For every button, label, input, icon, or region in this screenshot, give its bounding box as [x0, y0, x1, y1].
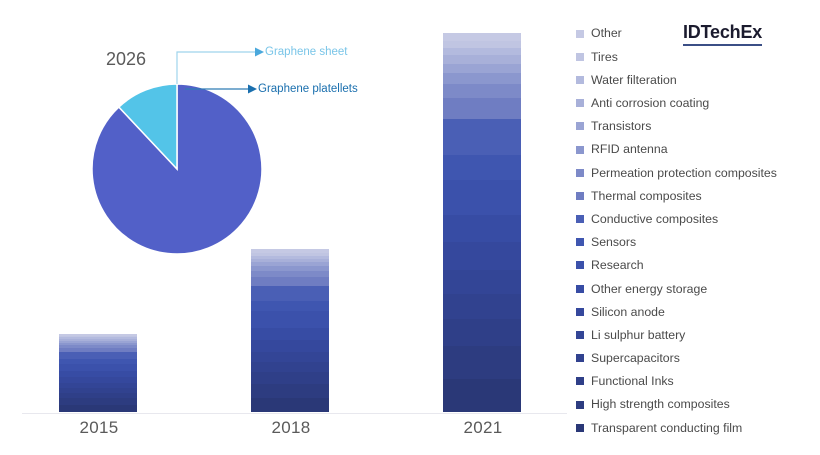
bar-segment [443, 84, 521, 98]
bar-segment [443, 180, 521, 216]
legend-label: Sensors [591, 236, 636, 248]
legend-row[interactable]: Supercapacitors [576, 347, 820, 370]
legend-label: Li sulphur battery [591, 329, 685, 341]
bar-segment [251, 311, 329, 327]
legend-row[interactable]: Transparent conducting film [576, 416, 820, 439]
bar-segment [443, 319, 521, 346]
bar-segment [443, 48, 521, 55]
category-label-2018: 2018 [231, 418, 351, 438]
bar-segment [251, 286, 329, 301]
bar-segment [443, 119, 521, 155]
bar-segment [251, 340, 329, 352]
bar-segment [443, 155, 521, 180]
bar-segment [443, 55, 521, 63]
bar-segment [251, 362, 329, 372]
bar-segment [251, 398, 329, 412]
legend-label: Tires [591, 51, 618, 63]
legend-label: Functional Inks [591, 375, 674, 387]
legend-label: Transistors [591, 120, 651, 132]
legend-label: High strength composites [591, 398, 730, 410]
legend-swatch-icon [576, 308, 584, 316]
bar-segment [443, 64, 521, 73]
pie-chart-svg [91, 83, 263, 255]
idtechex-logo: IDTechEx [683, 22, 762, 46]
legend-swatch-icon [576, 377, 584, 385]
legend-swatch-icon [576, 238, 584, 246]
logo-text: IDTechEx [683, 22, 762, 43]
bar-segment [443, 242, 521, 269]
legend-row[interactable]: Functional Inks [576, 370, 820, 393]
legend-row[interactable]: Tires [576, 45, 820, 68]
bar-segment [59, 352, 137, 359]
legend-swatch-icon [576, 215, 584, 223]
legend-swatch-icon [576, 424, 584, 432]
legend-swatch-icon [576, 261, 584, 269]
bar-segment [443, 98, 521, 120]
legend-label: Other [591, 27, 622, 39]
bar-segment [251, 372, 329, 384]
bar-segment [443, 270, 521, 295]
legend-swatch-icon [576, 354, 584, 362]
bar-segment [443, 294, 521, 319]
legend-swatch-icon [576, 30, 584, 38]
legend-label: Conductive composites [591, 213, 718, 225]
leader-line-graphene-sheet [177, 52, 256, 84]
legend-label: Supercapacitors [591, 352, 680, 364]
callout-graphene-platellets: Graphene platellets [258, 83, 358, 95]
legend-swatch-icon [576, 76, 584, 84]
logo-underline [683, 44, 762, 46]
bar-segment [251, 301, 329, 311]
bar-segment [443, 41, 521, 48]
legend-swatch-icon [576, 99, 584, 107]
pie-chart [91, 83, 261, 253]
bar-segment [443, 33, 521, 41]
legend-swatch-icon [576, 331, 584, 339]
legend-label: Other energy storage [591, 283, 707, 295]
stacked-bar-2015 [59, 334, 137, 412]
bar-segment [59, 398, 137, 405]
legend-label: Anti corrosion coating [591, 97, 709, 109]
legend-label: RFID antenna [591, 143, 668, 155]
stacked-bar-2018 [251, 249, 329, 412]
legend-swatch-icon [576, 192, 584, 200]
legend-row[interactable]: Water filteration [576, 68, 820, 91]
bar-segment [251, 328, 329, 340]
chart-canvas: 2015 2018 2021 2026 Graphene sheet Graph… [0, 0, 820, 455]
legend-row[interactable]: Sensors [576, 231, 820, 254]
legend-label: Thermal composites [591, 190, 702, 202]
legend-row[interactable]: Other energy storage [576, 277, 820, 300]
arrowhead-graphene-sheet [255, 48, 264, 57]
bar-segment [59, 364, 137, 372]
legend-label: Transparent conducting film [591, 422, 742, 434]
bar-segment [251, 384, 329, 398]
legend-swatch-icon [576, 122, 584, 130]
legend-swatch-icon [576, 285, 584, 293]
bar-segment [443, 346, 521, 379]
legend-swatch-icon [576, 401, 584, 409]
callout-graphene-sheet: Graphene sheet [265, 46, 347, 58]
legend-label: Permeation protection composites [591, 167, 777, 179]
legend-swatch-icon [576, 146, 584, 154]
legend-row[interactable]: Permeation protection composites [576, 161, 820, 184]
legend-row[interactable]: Transistors [576, 115, 820, 138]
legend-swatch-icon [576, 53, 584, 61]
bar-segment [443, 215, 521, 242]
legend-row[interactable]: Research [576, 254, 820, 277]
legend-row[interactable]: Thermal composites [576, 184, 820, 207]
bar-segment [59, 405, 137, 412]
bar-segment [251, 277, 329, 286]
legend-row[interactable]: Conductive composites [576, 208, 820, 231]
stacked-bar-2021 [443, 33, 521, 412]
bar-segment [443, 73, 521, 84]
legend: OtherTiresWater filterationAnti corrosio… [576, 22, 820, 439]
category-label-2021: 2021 [423, 418, 543, 438]
legend-row[interactable]: High strength composites [576, 393, 820, 416]
category-label-2015: 2015 [39, 418, 159, 438]
legend-row[interactable]: Li sulphur battery [576, 323, 820, 346]
legend-row[interactable]: RFID antenna [576, 138, 820, 161]
legend-label: Water filteration [591, 74, 677, 86]
legend-row[interactable]: Silicon anode [576, 300, 820, 323]
pie-year-label: 2026 [106, 49, 146, 70]
legend-label: Research [591, 259, 644, 271]
bar-segment [251, 352, 329, 362]
legend-label: Silicon anode [591, 306, 665, 318]
legend-swatch-icon [576, 169, 584, 177]
axis-baseline [22, 413, 567, 414]
bar-segment [443, 379, 521, 412]
legend-row[interactable]: Anti corrosion coating [576, 92, 820, 115]
